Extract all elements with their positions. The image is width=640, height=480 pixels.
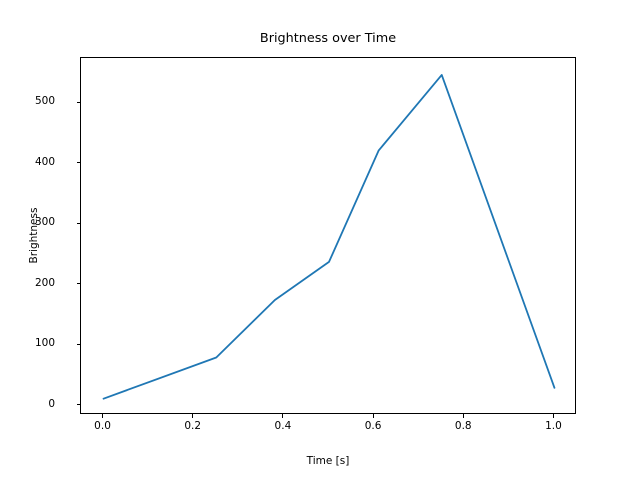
x-tick-label: 0.2 [163,421,223,431]
x-tick-mark [282,414,283,418]
y-tick-mark [77,344,81,345]
x-tick-mark [553,414,554,418]
x-tick-label: 1.0 [523,421,583,431]
y-tick-mark [77,102,81,103]
x-tick-label: 0.6 [343,421,403,431]
x-tick-mark [102,414,103,418]
y-tick-mark [77,223,81,224]
x-tick-label: 0.8 [433,421,493,431]
brightness-line [104,75,555,399]
x-tick-label: 0.4 [253,421,313,431]
y-axis-label: Brightness [28,57,42,414]
chart-title: Brightness over Time [80,31,576,47]
x-tick-label: 0.0 [73,421,133,431]
x-tick-mark [192,414,193,418]
line-series-svg [81,58,577,415]
y-tick-label: 0 [48,399,55,409]
plot-area [80,57,576,414]
y-tick-mark [77,404,81,405]
x-tick-mark [373,414,374,418]
x-tick-mark [463,414,464,418]
x-axis-label: Time [s] [80,455,576,467]
y-tick-mark [77,162,81,163]
y-tick-mark [77,283,81,284]
figure-canvas: Brightness over Time 0100200300400500 0.… [0,0,640,480]
